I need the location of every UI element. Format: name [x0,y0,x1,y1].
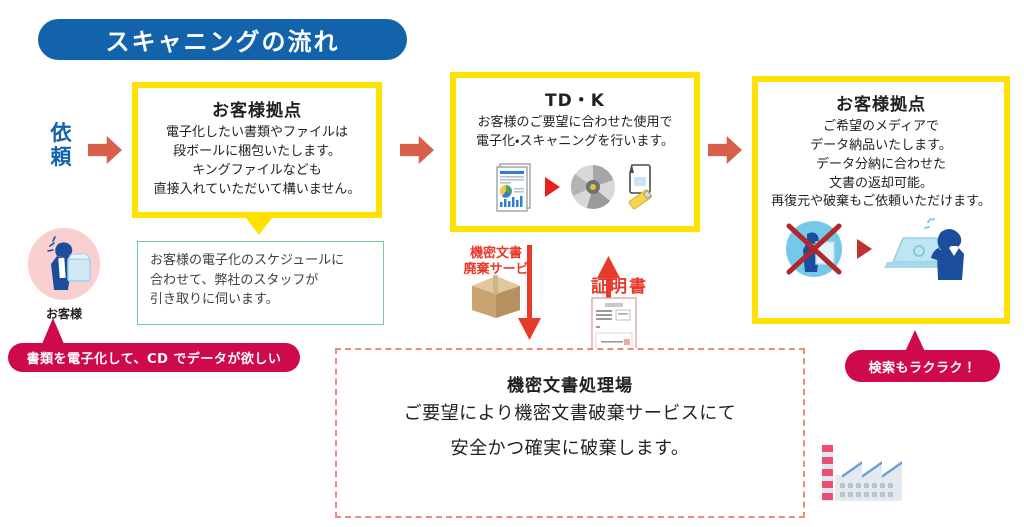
red-triangle-arrow-icon-right [855,238,873,260]
red-down-arrow-icon [518,318,541,340]
search-easy-badge-label: 検索もラクラク！ [868,357,976,376]
yellow-down-triangle-icon [246,218,272,235]
box-right-line-3: データ分納に合わせた [816,156,946,175]
box-left-line-2: 段ボールに梱包いたします。 [173,143,341,162]
box-right-title: お客様拠点 [836,90,926,115]
box-tdk-center: TD・K お客様のご要望に合わせた使用で 電子化・スキャニングを行います。 [450,72,700,232]
request-label: 依 頼 [44,122,78,169]
box-center-line-1: お客様のご要望に合わせた使用で [477,114,672,133]
dashed-panel-line-1: ご要望により機密文書破棄サービスにて [337,396,803,431]
right-arrow-icon-right [708,136,742,164]
dashed-panel-title: 機密文書処理場 [337,371,803,396]
dashed-panel-line-2: 安全かつ確実に破棄します。 [337,431,803,466]
box-customer-site-left: お客様拠点 電子化したい書類やファイルは 段ボールに梱包いたします。 キングファ… [132,82,382,218]
green-note-line-3: 引き取りに伺います。 [150,290,383,310]
box-right-line-5: 再復元や破棄もご依頼いただけます。 [771,193,991,212]
green-note-line-1: お客様の電子化のスケジュールに [150,251,383,271]
page-title: スキャニングの流れ [106,22,340,57]
certificate-label: 証明書 [591,272,648,297]
box-left-title: お客様拠点 [212,96,302,121]
right-arrow-icon-mid [400,136,434,164]
paper-search-crossed-out-icon [783,218,845,280]
document-report-icon [495,162,535,212]
green-note-box: お客様の電子化のスケジュールに 合わせて、弊社のスタッフが 引き取りに伺います。 [137,241,384,325]
customer-avatar-icon [28,228,100,300]
customer-avatar-label: お客様 [18,305,110,322]
box-right-line-4: 文書の返却可能。 [829,175,933,194]
box-left-line-4: 直接入れていただいて構いません。 [154,181,361,200]
box-right-line-2: データ納品いたします。 [810,137,952,156]
green-note-line-2: 合わせて、弊社のスタッフが [150,271,383,291]
right-arrow-icon [88,136,122,164]
customer-request-badge-label: 書類を電子化して、CD でデータが欲しい [27,348,282,367]
cd-disc-icon [569,163,617,211]
red-triangle-arrow-icon [543,176,561,198]
customer-request-badge: 書類を電子化して、CD でデータが欲しい [8,343,300,372]
search-easy-badge: 検索もラクラク！ [845,350,1000,382]
customer-avatar-svg [28,228,100,300]
box-center-line-2: 電子化・スキャニングを行います。 [476,133,674,152]
confidential-processing-panel: 機密文書処理場 ご要望により機密文書破棄サービスにて 安全かつ確実に破棄します。 [335,348,805,518]
cardboard-box-icon [466,270,526,318]
box-left-line-1: 電子化したい書類やファイルは [166,124,348,143]
box-customer-site-right: お客様拠点 ご希望のメディアで データ納品いたします。 データ分納に合わせた 文… [752,76,1010,324]
box-left-line-3: キングファイルなども [192,162,322,181]
sd-card-icon [625,163,655,211]
certificate-document-icon [591,297,637,353]
box-right-line-1: ご希望のメディアで [823,118,939,137]
laptop-user-icon [883,218,979,280]
page-title-banner: スキャニングの流れ [38,19,407,60]
customer-avatar-group: お客様 [18,228,110,322]
box-center-title: TD・K [545,86,605,111]
request-label-line2: 頼 [44,146,78,170]
discard-service-label-line1: 機密文書 [458,246,534,262]
request-label-line1: 依 [44,122,78,146]
red-down-arrow-shaft [527,245,532,323]
factory-icon [820,437,904,503]
